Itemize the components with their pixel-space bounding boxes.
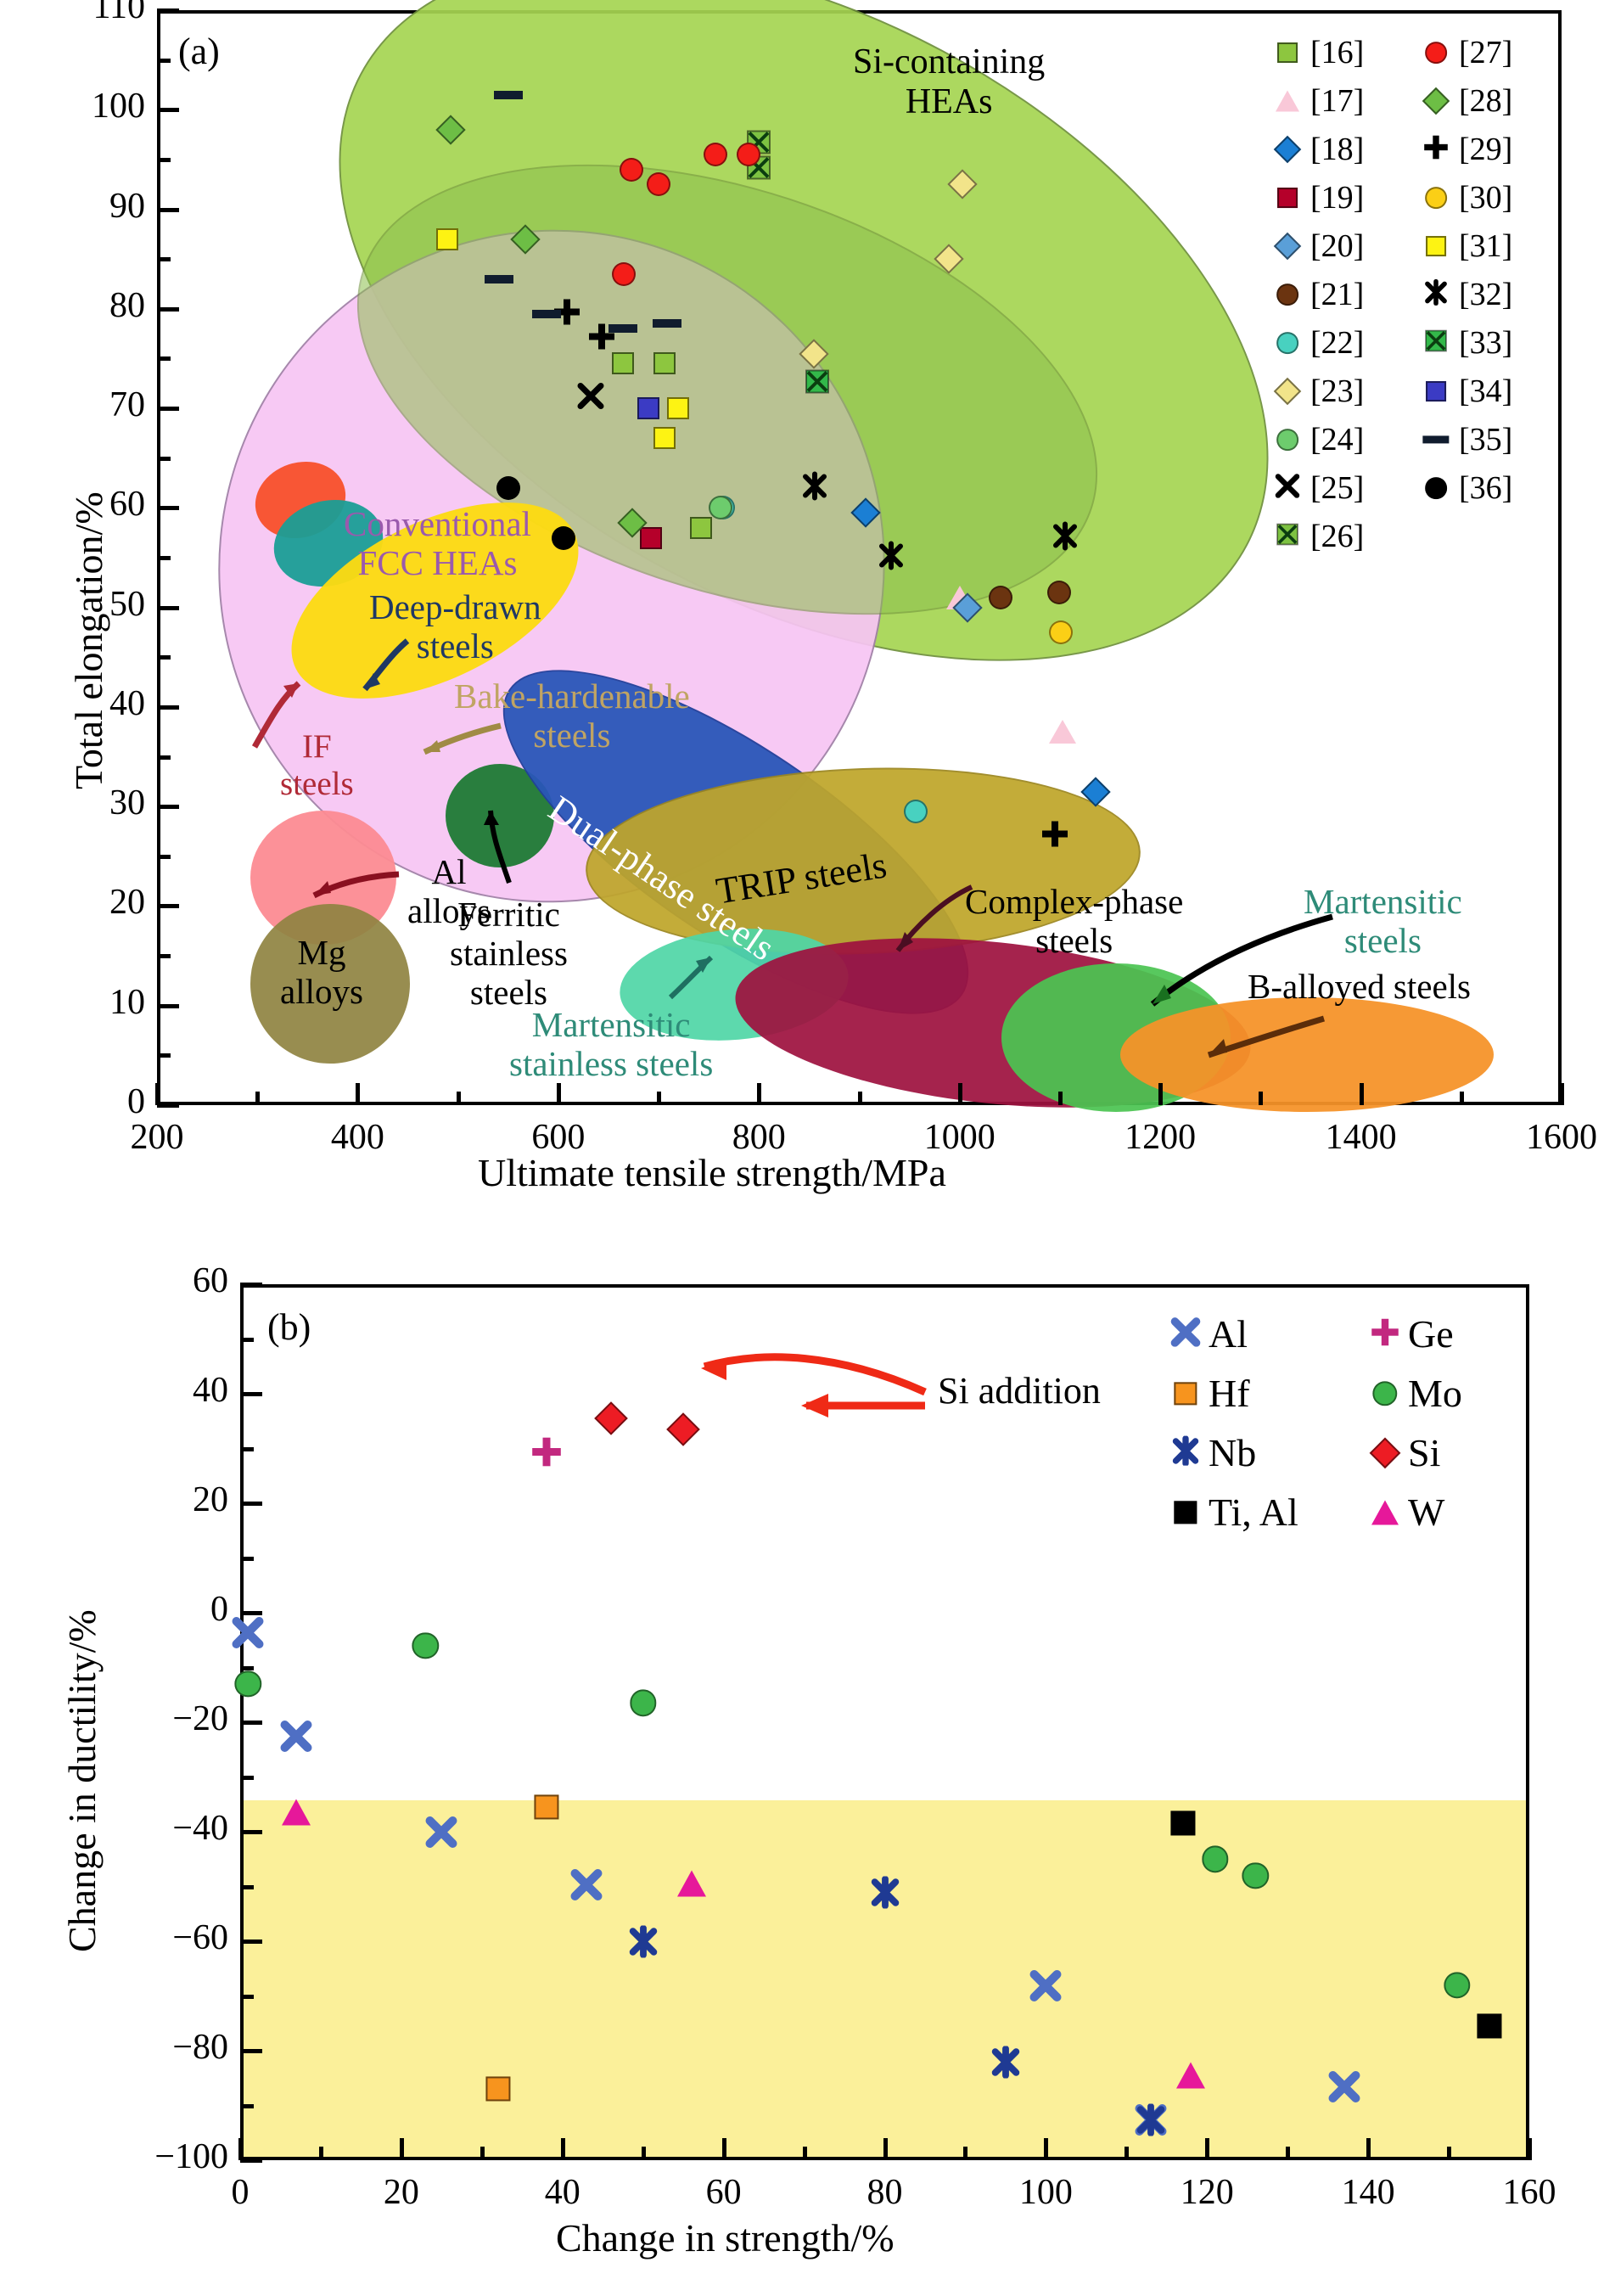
legend-symbol bbox=[1171, 1320, 1200, 1349]
legend-label: [23] bbox=[1310, 373, 1364, 410]
legend-label: [22] bbox=[1310, 324, 1364, 362]
marker-diamond bbox=[1274, 136, 1302, 164]
y-minor-tick bbox=[157, 59, 171, 63]
legend-symbol bbox=[1371, 1320, 1399, 1349]
x-tick bbox=[400, 2138, 404, 2160]
x-minor-tick bbox=[1124, 2147, 1129, 2160]
x-minor-tick bbox=[963, 2147, 967, 2160]
y-minor-tick bbox=[240, 1447, 254, 1451]
marker-circle bbox=[1276, 429, 1298, 451]
legend-label: [28] bbox=[1459, 82, 1512, 120]
legend-entry-30[interactable]: [30] bbox=[1422, 179, 1512, 216]
marker-boxed-x bbox=[1276, 524, 1298, 550]
marker-triangle bbox=[1276, 91, 1299, 112]
y-tick bbox=[240, 2049, 262, 2053]
legend-symbol bbox=[1422, 425, 1450, 454]
y-minor-tick bbox=[240, 1776, 254, 1780]
x-tick bbox=[238, 2138, 243, 2160]
y-tick bbox=[240, 1721, 262, 1725]
marker-plus bbox=[1422, 134, 1449, 165]
legend-symbol bbox=[1422, 280, 1450, 309]
legend-entry-nb[interactable]: Nb bbox=[1171, 1430, 1256, 1475]
legend-symbol bbox=[1422, 183, 1450, 212]
y-tick bbox=[240, 1830, 262, 1834]
legend-label: Ge bbox=[1408, 1311, 1454, 1356]
y-minor-tick bbox=[240, 1557, 254, 1561]
y-tick-label: 0 bbox=[0, 1081, 145, 1122]
y-tick-label: 20 bbox=[0, 882, 145, 923]
panel-a-ylabel: Total elongation/% bbox=[66, 491, 111, 789]
legend-label: Al bbox=[1209, 1311, 1248, 1356]
y-tick bbox=[157, 705, 179, 710]
legend-symbol bbox=[1171, 1439, 1200, 1468]
y-minor-tick bbox=[157, 954, 171, 958]
legend-symbol bbox=[1273, 377, 1302, 406]
legend-label: [16] bbox=[1310, 34, 1364, 71]
panel-a-xlabel: Ultimate tensile strength/MPa bbox=[478, 1150, 946, 1195]
legend-symbol bbox=[1273, 522, 1302, 551]
legend-symbol bbox=[1371, 1379, 1399, 1408]
legend-entry-21[interactable]: [21] bbox=[1273, 276, 1364, 313]
marker-dash bbox=[1422, 435, 1449, 443]
x-tick-label: 1200 bbox=[1067, 1117, 1253, 1158]
y-tick bbox=[240, 1502, 262, 1506]
x-tick-label: 100 bbox=[952, 2172, 1139, 2213]
legend-symbol bbox=[1371, 1439, 1399, 1468]
marker-square bbox=[1426, 381, 1446, 401]
x-tick bbox=[1560, 1083, 1564, 1105]
x-tick bbox=[958, 1083, 962, 1105]
y-tick bbox=[157, 8, 179, 13]
legend-entry-ti--al[interactable]: Ti, Al bbox=[1171, 1490, 1298, 1535]
legend-entry-33[interactable]: [33] bbox=[1422, 324, 1512, 362]
x-tick bbox=[356, 1083, 360, 1105]
y-tick bbox=[240, 2158, 262, 2163]
y-minor-tick bbox=[240, 1338, 254, 1342]
legend-entry-32[interactable]: [32] bbox=[1422, 276, 1512, 313]
legend-symbol bbox=[1422, 328, 1450, 357]
legend-label: Mo bbox=[1408, 1371, 1462, 1416]
x-tick bbox=[155, 1083, 160, 1105]
legend-symbol bbox=[1273, 474, 1302, 502]
x-tick bbox=[1360, 1083, 1364, 1105]
marker-square bbox=[1277, 42, 1298, 63]
legend-entry-31[interactable]: [31] bbox=[1422, 227, 1512, 265]
legend-entry-36[interactable]: [36] bbox=[1422, 469, 1512, 507]
marker-diamond bbox=[1369, 1437, 1400, 1468]
y-tick-label: 100 bbox=[0, 86, 145, 126]
marker-x-cross-blue bbox=[1170, 1316, 1201, 1351]
marker-circle bbox=[1425, 477, 1447, 499]
legend-entry-20[interactable]: [20] bbox=[1273, 227, 1364, 265]
x-tick-label: 120 bbox=[1113, 2172, 1300, 2213]
legend-entry-23[interactable]: [23] bbox=[1273, 373, 1364, 410]
y-tick bbox=[157, 108, 179, 112]
y-tick-label: 90 bbox=[0, 186, 145, 227]
y-tick-label: 60 bbox=[42, 1260, 228, 1301]
y-tick bbox=[157, 1004, 179, 1008]
legend-entry-34[interactable]: [34] bbox=[1422, 373, 1512, 410]
marker-boxed-x bbox=[1425, 330, 1447, 356]
legend-label: [24] bbox=[1310, 421, 1364, 458]
legend-label: [34] bbox=[1459, 373, 1512, 410]
legend-symbol bbox=[1273, 87, 1302, 115]
marker-circle bbox=[1276, 283, 1298, 306]
y-minor-tick bbox=[157, 356, 171, 361]
y-tick-label: 110 bbox=[0, 0, 145, 27]
legend-entry-35[interactable]: [35] bbox=[1422, 421, 1512, 458]
legend-entry-16[interactable]: [16] bbox=[1273, 34, 1364, 71]
legend-label: Si bbox=[1408, 1430, 1440, 1475]
legend-label: [32] bbox=[1459, 276, 1512, 313]
x-minor-tick bbox=[1286, 2147, 1290, 2160]
y-minor-tick bbox=[157, 556, 171, 560]
legend-entry-ge[interactable]: Ge bbox=[1371, 1311, 1454, 1356]
y-tick bbox=[157, 1103, 179, 1108]
legend-entry-22[interactable]: [22] bbox=[1273, 324, 1364, 362]
y-minor-tick bbox=[157, 655, 171, 660]
legend-entry-24[interactable]: [24] bbox=[1273, 421, 1364, 458]
x-tick-label: 40 bbox=[469, 2172, 656, 2213]
y-minor-tick bbox=[157, 755, 171, 760]
legend-symbol bbox=[1422, 377, 1450, 406]
legend-label: W bbox=[1408, 1490, 1444, 1535]
x-tick-label: 80 bbox=[792, 2172, 979, 2213]
legend-label: [26] bbox=[1310, 518, 1364, 555]
marker-diamond bbox=[1422, 87, 1450, 115]
marker-circle bbox=[1425, 42, 1447, 64]
x-tick-label: 160 bbox=[1436, 2172, 1604, 2213]
legend-label: [30] bbox=[1459, 179, 1512, 216]
marker-triangle bbox=[1371, 1500, 1399, 1524]
legend-label: [35] bbox=[1459, 421, 1512, 458]
x-minor-tick bbox=[1058, 1092, 1063, 1105]
legend-entry-25[interactable]: [25] bbox=[1273, 469, 1364, 507]
y-tick-label: 20 bbox=[42, 1479, 228, 1520]
panel-a-legend: [16][17][18][19][20][21][22][23][24][25]… bbox=[1273, 34, 1570, 569]
y-tick bbox=[157, 407, 179, 411]
marker-square bbox=[1426, 236, 1446, 256]
legend-label: [29] bbox=[1459, 131, 1512, 168]
y-tick-label: 70 bbox=[0, 385, 145, 425]
marker-diamond bbox=[1274, 233, 1302, 261]
y-tick bbox=[240, 1611, 262, 1615]
x-tick bbox=[722, 2138, 726, 2160]
y-tick bbox=[240, 1940, 262, 1944]
legend-symbol bbox=[1273, 328, 1302, 357]
figure-root: (a) Si-containing HEAs Con bbox=[0, 0, 1604, 2296]
y-tick bbox=[157, 208, 179, 212]
legend-label: Hf bbox=[1209, 1371, 1250, 1416]
legend-label: [27] bbox=[1459, 34, 1512, 71]
marker-circle bbox=[1372, 1381, 1397, 1406]
legend-entry-hf[interactable]: Hf bbox=[1171, 1371, 1250, 1416]
x-tick-label: 60 bbox=[631, 2172, 817, 2213]
y-minor-tick bbox=[240, 1666, 254, 1670]
legend-label: [36] bbox=[1459, 469, 1512, 507]
y-tick-label: 40 bbox=[42, 1370, 228, 1411]
y-minor-tick bbox=[240, 1885, 254, 1889]
y-minor-tick bbox=[157, 457, 171, 461]
x-minor-tick bbox=[319, 2147, 323, 2160]
legend-symbol bbox=[1273, 280, 1302, 309]
legend-entry-mo[interactable]: Mo bbox=[1371, 1371, 1462, 1416]
marker-diamond bbox=[1274, 378, 1302, 406]
x-minor-tick bbox=[457, 1092, 461, 1105]
x-tick-label: 200 bbox=[64, 1117, 250, 1158]
legend-entry-w[interactable]: W bbox=[1371, 1490, 1444, 1535]
legend-entry-28[interactable]: [28] bbox=[1422, 82, 1512, 120]
x-minor-tick bbox=[1447, 2147, 1451, 2160]
panel-b-ylabel: Change in ductility/% bbox=[59, 1609, 104, 1952]
y-tick-label: 80 bbox=[0, 285, 145, 326]
x-tick bbox=[1158, 1083, 1163, 1105]
legend-entry-27[interactable]: [27] bbox=[1422, 34, 1512, 71]
x-minor-tick bbox=[1259, 1092, 1263, 1105]
marker-circle bbox=[1425, 187, 1447, 209]
y-minor-tick bbox=[240, 1995, 254, 1999]
legend-label: [19] bbox=[1310, 179, 1364, 216]
legend-label: [21] bbox=[1310, 276, 1364, 313]
y-minor-tick bbox=[157, 257, 171, 261]
y-tick bbox=[157, 805, 179, 809]
x-tick bbox=[883, 2138, 888, 2160]
x-tick bbox=[561, 2138, 565, 2160]
legend-symbol bbox=[1273, 183, 1302, 212]
x-minor-tick bbox=[858, 1092, 862, 1105]
marker-square bbox=[1174, 1501, 1197, 1524]
y-tick bbox=[157, 904, 179, 908]
x-tick bbox=[1528, 2138, 1532, 2160]
x-minor-tick bbox=[480, 2147, 485, 2160]
legend-entry-17[interactable]: [17] bbox=[1273, 82, 1364, 120]
x-tick bbox=[1044, 2138, 1048, 2160]
y-tick-label: 10 bbox=[0, 982, 145, 1023]
legend-label: [17] bbox=[1310, 82, 1364, 120]
x-tick-label: 0 bbox=[147, 2172, 334, 2213]
x-tick-label: 1400 bbox=[1268, 1117, 1455, 1158]
x-tick bbox=[1366, 2138, 1371, 2160]
x-tick-label: 140 bbox=[1275, 2172, 1461, 2213]
legend-symbol bbox=[1273, 425, 1302, 454]
marker-square bbox=[1277, 188, 1298, 208]
x-minor-tick bbox=[1460, 1092, 1464, 1105]
legend-entry-26[interactable]: [26] bbox=[1273, 518, 1364, 555]
legend-symbol bbox=[1422, 232, 1450, 261]
marker-circle bbox=[1276, 332, 1298, 354]
legend-label: [18] bbox=[1310, 131, 1364, 168]
y-minor-tick bbox=[157, 158, 171, 162]
legend-label: [20] bbox=[1310, 227, 1364, 265]
legend-entry-19[interactable]: [19] bbox=[1273, 179, 1364, 216]
x-minor-tick bbox=[803, 2147, 807, 2160]
y-tick-label: −80 bbox=[42, 2027, 228, 2068]
panel-b-xlabel: Change in strength/% bbox=[556, 2215, 895, 2260]
legend-label: [33] bbox=[1459, 324, 1512, 362]
legend-symbol bbox=[1422, 38, 1450, 67]
y-tick bbox=[157, 307, 179, 312]
legend-symbol bbox=[1171, 1379, 1200, 1408]
y-minor-tick bbox=[157, 1053, 171, 1058]
legend-entry-18[interactable]: [18] bbox=[1273, 131, 1364, 168]
x-tick-label: 400 bbox=[264, 1117, 451, 1158]
y-minor-tick bbox=[157, 855, 171, 859]
legend-entry-si[interactable]: Si bbox=[1371, 1430, 1440, 1475]
legend-symbol bbox=[1273, 232, 1302, 261]
legend-symbol bbox=[1273, 38, 1302, 67]
y-tick bbox=[157, 606, 179, 610]
x-minor-tick bbox=[642, 2147, 646, 2160]
marker-plus bbox=[1370, 1316, 1400, 1351]
marker-asterisk bbox=[1422, 279, 1449, 310]
panel-b-legend: AlHfNbTi, AlGeMoSiW bbox=[1171, 1311, 1528, 1566]
y-tick bbox=[240, 1392, 262, 1396]
panel-b: (b) Si addition 020406080100120140160−10… bbox=[0, 1231, 1604, 2296]
legend-symbol bbox=[1371, 1498, 1399, 1527]
legend-label: [31] bbox=[1459, 227, 1512, 265]
legend-symbol bbox=[1422, 87, 1450, 115]
x-minor-tick bbox=[255, 1092, 260, 1105]
marker-square bbox=[1174, 1382, 1197, 1405]
x-tick-label: 1600 bbox=[1468, 1117, 1604, 1158]
y-tick bbox=[240, 1283, 262, 1287]
x-tick-label: 20 bbox=[308, 2172, 495, 2213]
legend-label: Nb bbox=[1209, 1430, 1256, 1475]
legend-entry-29[interactable]: [29] bbox=[1422, 131, 1512, 168]
x-tick bbox=[557, 1083, 561, 1105]
marker-asterisk-navy bbox=[1170, 1435, 1201, 1470]
legend-symbol bbox=[1422, 135, 1450, 164]
legend-symbol bbox=[1273, 135, 1302, 164]
y-tick bbox=[157, 506, 179, 510]
y-minor-tick bbox=[240, 2104, 254, 2108]
y-tick-label: −100 bbox=[42, 2136, 228, 2177]
marker-x-cross bbox=[1275, 474, 1299, 502]
legend-symbol bbox=[1171, 1498, 1200, 1527]
x-tick bbox=[757, 1083, 761, 1105]
legend-entry-al[interactable]: Al bbox=[1171, 1311, 1248, 1356]
legend-symbol bbox=[1422, 474, 1450, 502]
panel-a: (a) Si-containing HEAs Con bbox=[0, 0, 1604, 1231]
x-tick bbox=[1205, 2138, 1209, 2160]
legend-label: Ti, Al bbox=[1209, 1490, 1298, 1535]
legend-label: [25] bbox=[1310, 469, 1364, 507]
x-minor-tick bbox=[657, 1092, 661, 1105]
